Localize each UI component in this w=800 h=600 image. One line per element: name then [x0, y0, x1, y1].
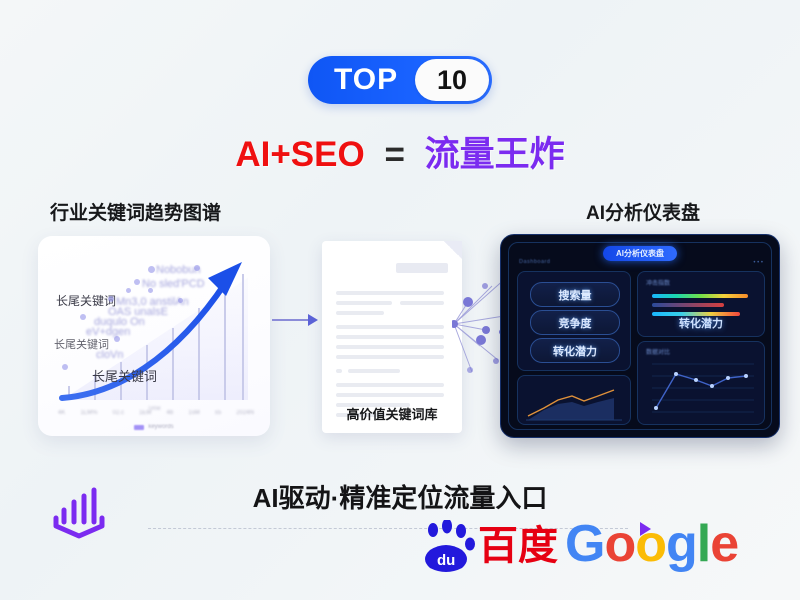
dashboard-subtitle: Dashboard — [519, 259, 550, 265]
headline-ai-seo: AI+SEO — [235, 135, 364, 174]
chart-blur-word: eV+dgen — [86, 326, 130, 338]
gauge-overlay-label: 转化潜力 — [638, 315, 764, 331]
legend-label: keywords — [148, 424, 173, 430]
chart-node-dot — [194, 265, 200, 271]
section-title-right: AI分析仪表盘 — [586, 198, 700, 225]
chart-node-dot — [134, 279, 140, 285]
chart-node-dot — [178, 298, 183, 303]
comparison-line-chart — [638, 354, 764, 424]
chart-blur-word: cloVn — [96, 349, 124, 361]
comparison-line-panel: 数据对比 — [637, 341, 765, 425]
chart-node-dot — [108, 296, 114, 302]
metric-pill-conversion-potential[interactable]: 转化潜力 — [530, 338, 620, 363]
chart-node-dot — [62, 364, 68, 370]
google-letter-g2: g — [666, 515, 697, 573]
page-title: AI+SEO = 流量王炸 — [0, 126, 800, 177]
metric-pill-competition[interactable]: 竞争度 — [530, 310, 620, 335]
headline-equals: = — [384, 135, 404, 174]
google-letter-o2: o — [635, 515, 666, 573]
gauge-bar — [652, 303, 724, 307]
google-letter-e: e — [710, 515, 738, 573]
top-badge-label: TOP — [334, 65, 398, 95]
mini-area-chart — [518, 376, 630, 424]
impact-gauge-panel: 冲击指数 转化潜力 — [637, 271, 765, 337]
chart-legend: keywords — [38, 424, 270, 430]
metric-pill-panel: 搜索量 竞争度 转化潜力 — [517, 271, 631, 371]
baidu-du-text: du — [437, 552, 455, 569]
section-title-left: 行业关键词趋势图谱 — [50, 198, 221, 225]
chart-keyword-label: 长尾关键词 — [92, 366, 157, 385]
google-logo: Google — [565, 518, 738, 570]
baidu-logo: du 百度 — [420, 520, 558, 572]
dashboard-menu-icon[interactable]: • • • — [753, 260, 763, 266]
headline-traffic: 流量王炸 — [425, 135, 565, 174]
google-letter-l: l — [697, 515, 710, 573]
google-letter-g1: G — [565, 515, 604, 573]
google-letter-o1: o — [604, 515, 635, 573]
metric-pill-search-volume[interactable]: 搜索量 — [530, 282, 620, 307]
chart-node-dot — [114, 336, 120, 342]
mini-area-chart-panel — [517, 375, 631, 425]
footer-tagline: AI驱动·精准定位流量入口 — [0, 478, 800, 515]
data-chart-icon — [48, 484, 110, 546]
keyword-library-document-card: 高价值关键词库 — [322, 241, 462, 433]
flow-arrow-icon — [272, 312, 320, 328]
top-rank-badge: TOP 10 — [308, 56, 492, 104]
chart-keyword-label: 长尾关键词 — [56, 292, 116, 309]
baidu-text: 百度 — [478, 526, 558, 566]
top-badge-number-circle: 10 — [415, 59, 489, 101]
chart-node-dot — [126, 288, 131, 293]
baidu-paw-icon: du — [420, 520, 476, 572]
gauge-panel-title: 冲击指数 — [646, 278, 670, 287]
doc-header-block — [396, 263, 448, 273]
chart-node-dot — [80, 314, 86, 320]
chart-node-dot — [148, 288, 153, 293]
keyword-trend-chart-card: 长尾关键词 长尾关键词 长尾关键词 Nobobun No sled'PCD Mn… — [38, 236, 270, 436]
doc-card-label: 高价值关键词库 — [322, 404, 462, 423]
ai-dashboard-panel: AI分析仪表盘 Dashboard • • • 搜索量 竞争度 转化潜力 冲击指… — [500, 234, 780, 438]
page-fold-corner — [444, 241, 462, 259]
gauge-bar — [652, 294, 748, 298]
top-badge-number: 10 — [437, 67, 467, 94]
chart-x-axis-caption: Time — [38, 406, 270, 412]
dashboard-title-badge: AI分析仪表盘 — [603, 246, 677, 261]
legend-swatch — [134, 425, 144, 430]
chart-node-dot — [148, 266, 155, 273]
